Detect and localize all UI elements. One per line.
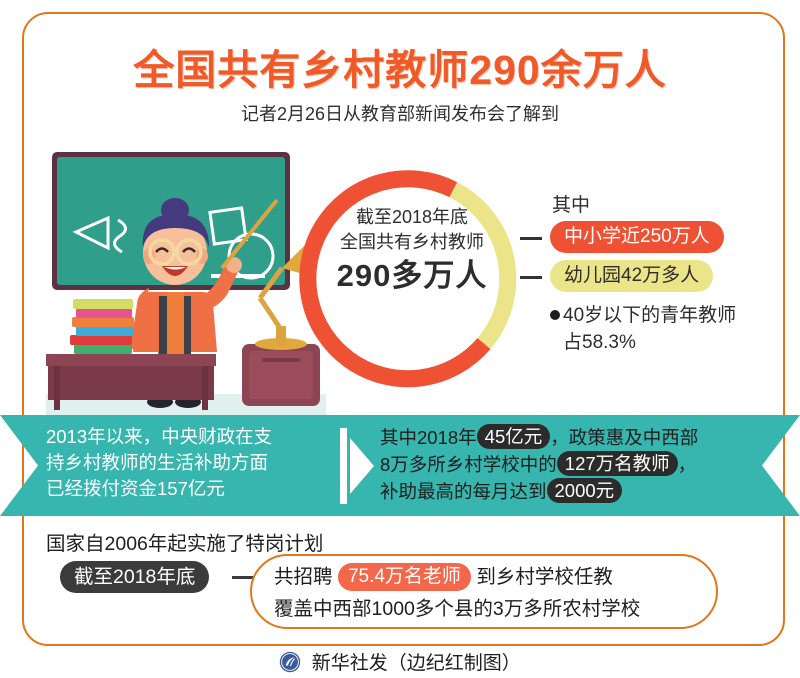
legend-label-primary: 中小学近250万人 <box>550 221 724 253</box>
ribbon-left-line-1: 2013年以来，中央财政在支 <box>46 424 346 450</box>
ribbon-right-text: 其中2018年45亿元，政策惠及中西部 8万多所乡村学校中的127万名教师， 补… <box>380 424 780 505</box>
ribbon-r2-highlight: 127万名教师 <box>557 451 678 476</box>
legend-heading: 其中 <box>552 190 770 217</box>
bottom-b1-post: 到乡村学校任教 <box>476 566 613 588</box>
bottom-date-pill: 截至2018年底 <box>60 561 209 593</box>
donut-center-text: 截至2018年底 全国共有乡村教师 290多万人 <box>312 205 512 297</box>
legend-item-secondary: 幼儿园42万多人 <box>520 260 770 294</box>
bottom-box-line-1: 共招聘 75.4万名老师 到乡村学校任教 <box>274 560 613 594</box>
ribbon-left-text: 2013年以来，中央财政在支 持乡村教师的生活补助方面 已经拨付资金157亿元 <box>46 424 346 502</box>
infographic-root: 全国共有乡村教师290余万人 记者2月26日从教育部新闻发布会了解到 <box>0 0 800 678</box>
legend-annotation: 40岁以下的青年教师 占58.3% <box>550 302 770 356</box>
teacher-illustration <box>46 148 326 416</box>
ribbon-arrow-icon <box>340 428 380 504</box>
donut-line-2: 全国共有乡村教师 <box>312 230 512 255</box>
legend-label-secondary: 幼儿园42万多人 <box>550 260 713 292</box>
annotation-line-2: 占58.3% <box>563 329 770 356</box>
ribbon-r2-pre: 8万多所乡村学校中的 <box>380 454 557 475</box>
ribbon-left-line-3: 已经拨付资金157亿元 <box>46 476 346 502</box>
ribbon-r1-pre: 其中2018年 <box>380 427 477 448</box>
bottom-intro-text: 国家自2006年起实施了特岗计划 <box>46 527 323 556</box>
ribbon-r3-highlight: 2000元 <box>547 478 623 503</box>
ribbon-r2-post: ， <box>678 454 697 475</box>
legend-connector-line <box>520 237 542 240</box>
ribbon-right-line-2: 8万多所乡村学校中的127万名教师， <box>380 451 780 478</box>
xinhua-logo-icon <box>279 651 301 678</box>
ribbon-r3-pre: 补助最高的每月达到 <box>380 481 547 502</box>
legend-item-primary: 中小学近250万人 <box>520 221 770 255</box>
footer-inner: 新华社发（边纪红制图） <box>279 648 520 678</box>
donut-line-1: 截至2018年底 <box>312 205 512 230</box>
ribbon-right-line-3: 补助最高的每月达到2000元 <box>380 478 780 505</box>
bottom-b1-pre: 共招聘 <box>274 566 333 588</box>
bottom-b1-highlight: 75.4万名老师 <box>338 563 471 591</box>
bullet-dot-icon <box>550 310 560 320</box>
ribbon-left-line-2: 持乡村教师的生活补助方面 <box>46 450 346 476</box>
legend-connector-line <box>520 276 542 279</box>
donut-headline-value: 290多万人 <box>312 255 512 297</box>
donut-legend: 其中 中小学近250万人 幼儿园42万多人 40岁以下的青年教师 占58.3% <box>520 190 770 356</box>
ribbon-right-line-1: 其中2018年45亿元，政策惠及中西部 <box>380 424 780 451</box>
bottom-box-line-2: 覆盖中西部1000多个县的3万多所农村学校 <box>274 592 640 626</box>
ribbon-r1-post: ，政策惠及中西部 <box>550 427 698 448</box>
page-subtitle: 记者2月26日从教育部新闻发布会了解到 <box>0 100 800 126</box>
footer-credit: 新华社发（边纪红制图） <box>312 653 521 674</box>
annotation-line-1: 40岁以下的青年教师 <box>563 305 736 326</box>
bottom-connector-line <box>232 576 254 579</box>
footer: 新华社发（边纪红制图） <box>0 648 800 678</box>
ribbon-r1-highlight: 45亿元 <box>477 424 551 449</box>
page-title: 全国共有乡村教师290余万人 <box>0 36 800 96</box>
